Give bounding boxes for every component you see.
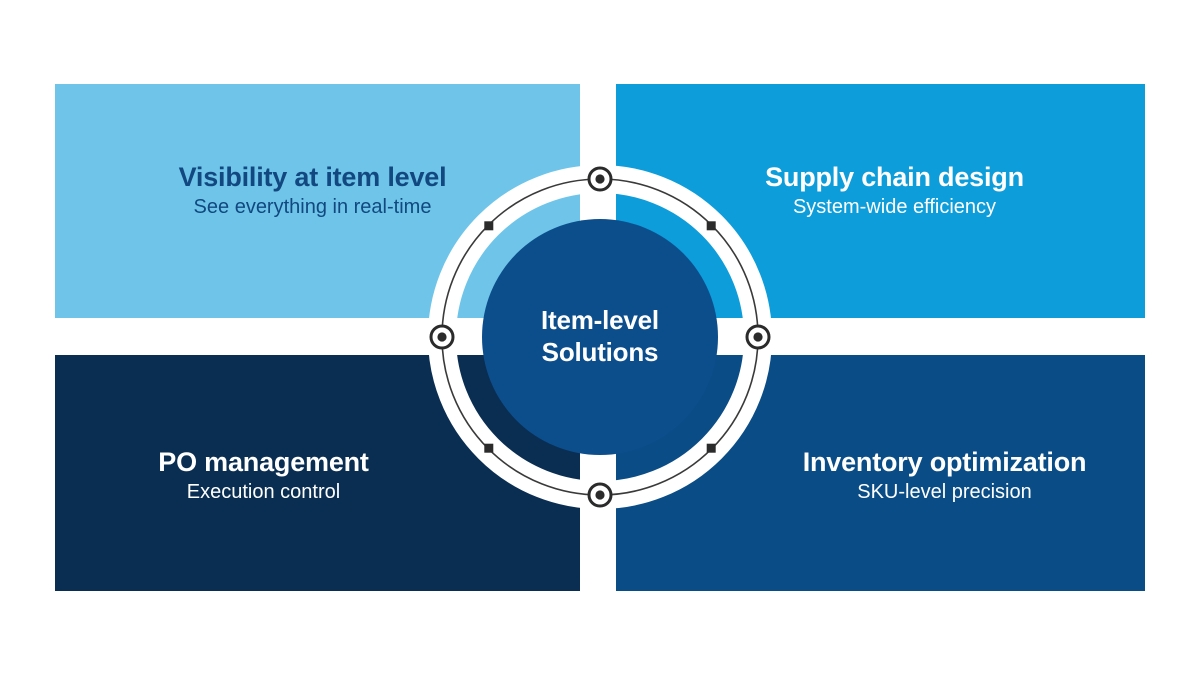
orbit-node-marker-top	[589, 168, 611, 190]
quadrant-top-left-title: Visibility at item level	[179, 162, 447, 192]
quadrant-top-right-title: Supply chain design	[765, 162, 1024, 192]
orbit-square-marker-sw	[484, 444, 493, 453]
quadrant-bottom-left-title: PO management	[158, 447, 368, 477]
center-circle	[482, 219, 718, 455]
quadrant-top-left-subtitle: See everything in real-time	[194, 194, 432, 220]
quadrant-top-right-subtitle: System-wide efficiency	[793, 194, 996, 220]
orbit-square-marker-se	[707, 444, 716, 453]
orbit-square-marker-nw	[484, 221, 493, 230]
quadrant-bottom-left-subtitle: Execution control	[187, 479, 340, 505]
orbit-node-marker-bottom	[589, 484, 611, 506]
diagram-canvas: Visibility at item level See everything …	[0, 0, 1200, 675]
orbit-square-marker-ne	[707, 221, 716, 230]
orbit-node-marker-left	[431, 326, 453, 348]
quadrant-bottom-right-title: Inventory optimization	[803, 447, 1087, 477]
quadrant-bottom-right-subtitle: SKU-level precision	[857, 479, 1032, 505]
orbit-node-marker-right	[747, 326, 769, 348]
central-hub: Item-level Solutions	[418, 155, 782, 519]
